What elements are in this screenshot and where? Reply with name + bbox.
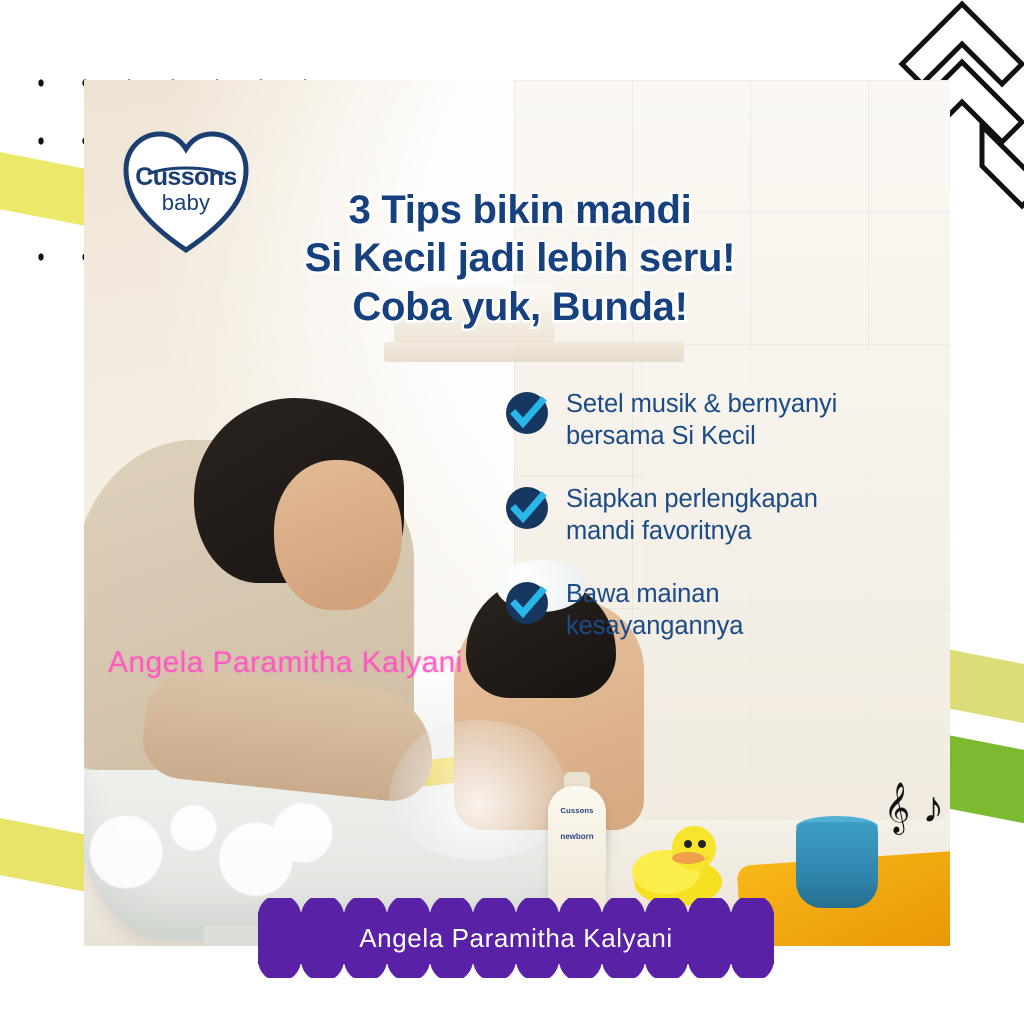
headline: 3 Tips bikin mandi Si Kecil jadi lebih s… <box>240 186 800 331</box>
tip-text: Bawa mainan kesayangannya <box>566 578 743 643</box>
name-banner: Angela Paramitha Kalyani <box>258 898 774 978</box>
tip-item: Siapkan perlengkapan mandi favoritnya <box>504 483 924 548</box>
water-splash <box>384 720 574 860</box>
check-circle-icon <box>504 485 550 531</box>
check-circle-icon <box>504 580 550 626</box>
blue-cup <box>796 822 878 908</box>
tip-text: Siapkan perlengkapan mandi favoritnya <box>566 483 818 548</box>
logo-text: Cussons baby <box>118 122 254 258</box>
tip-line-1: Siapkan perlengkapan <box>566 483 818 515</box>
tip-text: Setel musik & bernyanyi bersama Si Kecil <box>566 388 837 453</box>
tip-line-1: Setel musik & bernyanyi <box>566 388 837 420</box>
poster-canvas: Cussons newborn 𝄞 ♪♫ Cussons baby <box>0 0 1024 1024</box>
bottle-variant-label: newborn <box>548 832 606 842</box>
headline-line-2: Si Kecil jadi lebih seru! <box>240 234 800 282</box>
bubbles <box>84 780 334 900</box>
tip-line-2: bersama Si Kecil <box>566 420 837 452</box>
bottle-brand-label: Cussons <box>548 806 606 815</box>
rubber-duck-icon <box>628 820 726 908</box>
cussons-baby-logo: Cussons baby <box>118 122 254 258</box>
tip-line-1: Bawa mainan <box>566 578 743 610</box>
tip-line-2: mandi favoritnya <box>566 515 818 547</box>
logo-line1: Cussons <box>135 165 236 190</box>
mother-face <box>274 460 402 610</box>
tip-item: Setel musik & bernyanyi bersama Si Kecil <box>504 388 924 453</box>
tip-item: Bawa mainan kesayangannya <box>504 578 924 643</box>
photo-watermark: Angela Paramitha Kalyani <box>108 646 463 680</box>
logo-line2: baby <box>162 190 211 215</box>
tips-list: Setel musik & bernyanyi bersama Si Kecil… <box>504 388 924 672</box>
banner-label: Angela Paramitha Kalyani <box>258 898 774 978</box>
tip-line-2: kesayangannya <box>566 610 743 642</box>
headline-line-1: 3 Tips bikin mandi <box>240 186 800 234</box>
shelf <box>384 342 684 362</box>
headline-line-3: Coba yuk, Bunda! <box>240 283 800 331</box>
music-notes-icon: 𝄞 ♪♫ <box>884 786 950 896</box>
check-circle-icon <box>504 390 550 436</box>
